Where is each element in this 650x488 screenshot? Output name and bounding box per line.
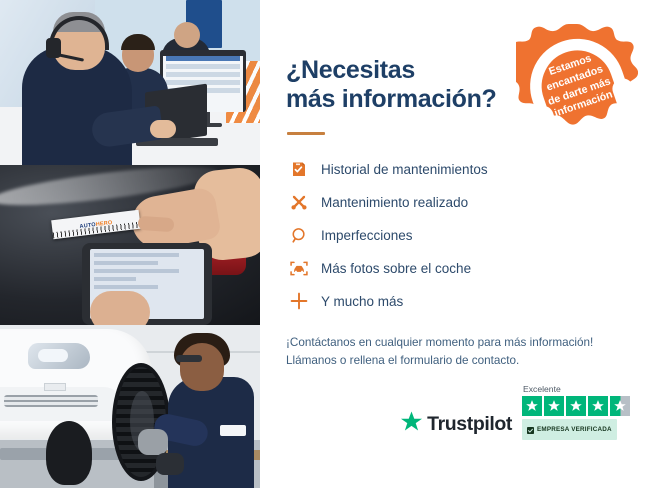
list-item-label: Mantenimiento realizado <box>321 195 468 210</box>
trustpilot-logo[interactable]: Trustpilot <box>400 410 512 440</box>
information-banner: AUTOHERO <box>0 0 650 488</box>
background-agent-head <box>174 22 200 48</box>
car-grille <box>4 395 98 407</box>
star-rating <box>522 396 630 416</box>
screen-row <box>166 64 240 69</box>
trustpilot-score-block: Excelente <box>522 384 630 440</box>
check-square-icon <box>527 421 534 439</box>
screen-row <box>166 56 240 61</box>
content-panel: ¿Necesitas más información? Historial de… <box>260 0 650 488</box>
contact-line-1: ¡Contáctanos en cualquier momento para m… <box>286 334 624 353</box>
star-filled <box>544 396 564 416</box>
call-center-agents-photo <box>0 0 260 165</box>
plus-icon <box>286 292 312 310</box>
inspector-finger <box>138 216 175 232</box>
clipboard-check-icon <box>286 160 312 178</box>
list-item: Más fotos sobre el coche <box>286 252 624 285</box>
trustpilot-star-icon <box>400 410 423 438</box>
headline-line-1: ¿Necesitas <box>286 56 415 84</box>
list-item-label: Más fotos sobre el coche <box>321 261 471 276</box>
feature-list: Historial de mantenimientos M <box>286 153 624 318</box>
mechanic-wheel-photo <box>0 325 260 488</box>
tablet-row <box>94 261 158 265</box>
list-item-label: Y mucho más <box>321 294 403 309</box>
mechanic-glove-secondary <box>156 453 184 475</box>
contact-text: ¡Contáctanos en cualquier momento para m… <box>286 334 624 372</box>
mechanic-glove <box>138 429 168 455</box>
tablet-row <box>94 269 179 273</box>
safety-glasses <box>176 355 202 362</box>
star-filled <box>522 396 542 416</box>
list-item-label: Imperfecciones <box>321 228 413 243</box>
inspector-second-hand <box>90 291 150 325</box>
screen-row <box>166 72 240 77</box>
tablet-row <box>94 277 136 281</box>
verified-label: EMPRESA VERIFICADA <box>537 426 612 433</box>
license-plate <box>44 383 66 391</box>
car-scan-frame-icon <box>286 260 312 277</box>
list-item-label: Historial de mantenimientos <box>321 162 488 177</box>
list-item: Mantenimiento realizado <box>286 186 624 219</box>
ruler-inspection-photo: AUTOHERO <box>0 165 260 325</box>
tablet-row <box>94 285 158 289</box>
wrench-screwdriver-icon <box>286 193 312 211</box>
headlight-inner <box>38 349 68 362</box>
list-item: Y mucho más <box>286 285 624 318</box>
verified-badge: EMPRESA VERIFICADA <box>522 419 617 440</box>
mechanic-head <box>180 343 224 391</box>
trustpilot-rating[interactable]: Trustpilot Excelente <box>286 384 630 440</box>
title-divider <box>287 132 325 135</box>
tablet-row <box>94 253 179 257</box>
magnifier-icon <box>286 227 312 244</box>
contact-line-2: Llámanos o rellena el formulario de cont… <box>286 352 624 371</box>
rating-label: Excelente <box>523 384 561 394</box>
star-filled <box>588 396 608 416</box>
photo-column: AUTOHERO <box>0 0 260 488</box>
agent-hand <box>150 120 176 138</box>
star-filled <box>566 396 586 416</box>
trustpilot-name: Trustpilot <box>427 413 512 436</box>
list-item: Historial de mantenimientos <box>286 153 624 186</box>
star-half <box>610 396 630 416</box>
status-badge: Estamos encantados de darte más informac… <box>516 22 638 148</box>
rear-wheel <box>46 421 92 485</box>
uniform-logo <box>220 425 246 436</box>
list-item: Imperfecciones <box>286 219 624 252</box>
